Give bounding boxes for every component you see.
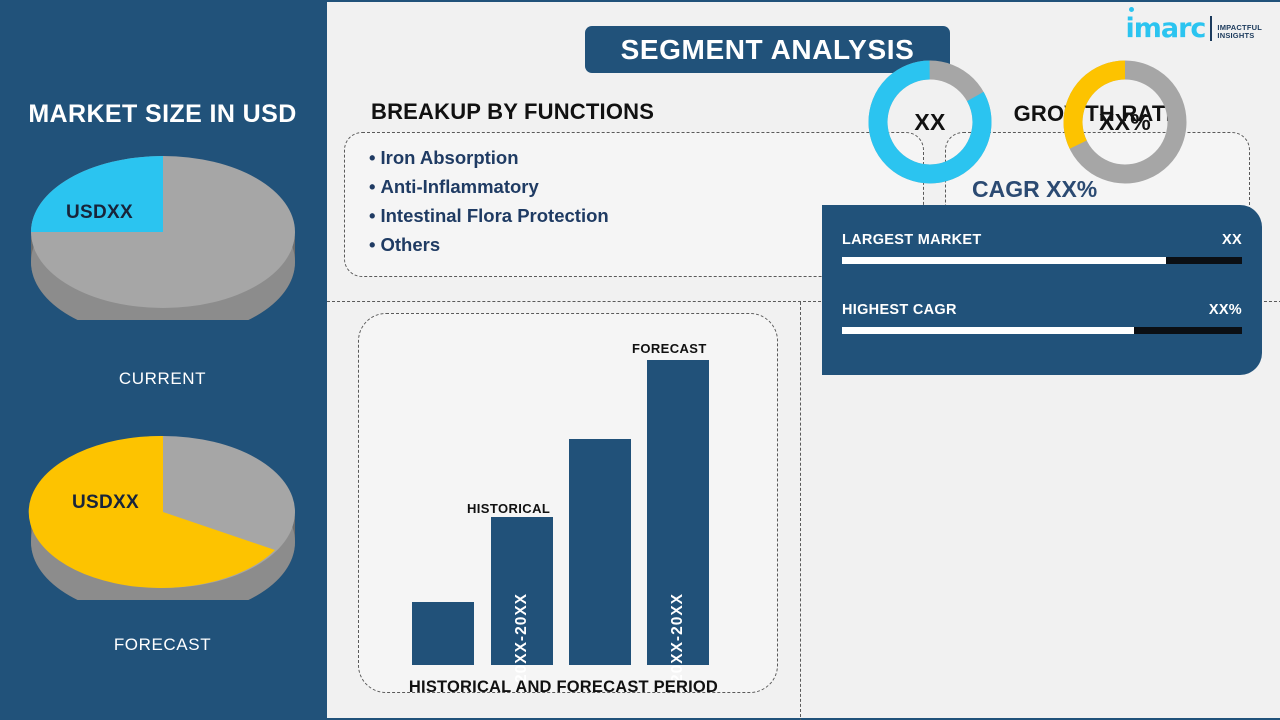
- stat-progress-fill: [842, 257, 1166, 264]
- historical-forecast-bar-chart: 20XX-20XX 20XX-20XX HISTORICAL FORECAST …: [327, 302, 800, 720]
- logo-wordmark: imarc: [1125, 15, 1205, 42]
- current-pie-chart-icon: [27, 150, 299, 320]
- forecast-pie-caption: FORECAST: [0, 635, 325, 655]
- bullet-icon: •: [369, 147, 375, 168]
- stat-header: HIGHEST CAGR XX%: [842, 302, 1242, 323]
- list-item: •Anti-Inflammatory: [369, 172, 609, 201]
- current-pie-caption: CURRENT: [0, 369, 325, 389]
- sidebar-title: MARKET SIZE IN USD: [0, 100, 325, 129]
- bar-3: 20XX-20XX: [647, 360, 709, 665]
- stat-label: HIGHEST CAGR: [842, 302, 957, 318]
- bullet-icon: •: [369, 234, 375, 255]
- donut-chart-count: XX: [865, 57, 995, 192]
- logo-dot-icon: [1129, 7, 1134, 12]
- stat-progress-fill: [842, 327, 1134, 334]
- stat-label: LARGEST MARKET: [842, 232, 982, 248]
- list-item-label: Iron Absorption: [380, 147, 518, 168]
- bar-2: [569, 439, 631, 665]
- main-panel: SEGMENT ANALYSIS imarc IMPACTFUL INSIGHT…: [325, 0, 1280, 720]
- stat-value: XX%: [1209, 302, 1242, 318]
- functions-list: •Iron Absorption •Anti-Inflammatory •Int…: [369, 143, 609, 259]
- bar-chart-caption: HISTORICAL AND FORECAST PERIOD: [327, 678, 800, 697]
- bar-1: 20XX-20XX: [491, 517, 553, 665]
- current-pie-block: USDXX CURRENT: [0, 150, 325, 389]
- vertical-divider: [800, 302, 801, 720]
- bar-0: [412, 602, 474, 665]
- logo-divider: [1210, 16, 1212, 41]
- stat-progress-track: [842, 327, 1242, 334]
- historical-annotation: HISTORICAL: [467, 501, 550, 516]
- forecast-pie-chart-icon: [27, 430, 299, 600]
- forecast-pie-value: USDXX: [72, 492, 139, 514]
- logo-tagline: IMPACTFUL INSIGHTS: [1217, 24, 1262, 42]
- imarc-logo: imarc IMPACTFUL INSIGHTS: [1125, 15, 1262, 42]
- logo-tagline-line2: INSIGHTS: [1217, 32, 1262, 40]
- forecast-pie-block: USDXX FORECAST: [0, 430, 325, 655]
- list-item-label: Anti-Inflammatory: [380, 176, 538, 197]
- logo-word-text: imarc: [1125, 15, 1205, 42]
- current-pie-stage: USDXX: [0, 150, 325, 325]
- list-item: •Iron Absorption: [369, 143, 609, 172]
- list-item: •Intestinal Flora Protection: [369, 201, 609, 230]
- bullet-icon: •: [369, 176, 375, 197]
- stat-header: LARGEST MARKET XX: [842, 232, 1242, 253]
- functions-heading: BREAKUP BY FUNCTIONS: [371, 99, 654, 125]
- market-size-sidebar: MARKET SIZE IN USD USDXX CURRENT: [0, 0, 325, 720]
- forecast-annotation: FORECAST: [632, 341, 707, 356]
- donut-chart-percent: XX%: [1060, 57, 1190, 192]
- donut-percent-value: XX%: [1060, 57, 1190, 187]
- list-item-label: Intestinal Flora Protection: [380, 205, 608, 226]
- list-item-label: Others: [380, 234, 440, 255]
- stat-progress-track: [842, 257, 1242, 264]
- donut-count-value: XX: [865, 57, 995, 187]
- current-pie-value: USDXX: [66, 202, 133, 224]
- stat-row-highest-cagr: HIGHEST CAGR XX%: [842, 302, 1242, 334]
- stat-value: XX: [1222, 232, 1242, 248]
- market-stats-card: LARGEST MARKET XX HIGHEST CAGR XX%: [822, 205, 1262, 375]
- bullet-icon: •: [369, 205, 375, 226]
- stat-row-largest-market: LARGEST MARKET XX: [842, 232, 1242, 264]
- bar-3-inner-label: 20XX-20XX: [669, 593, 687, 683]
- list-item: •Others: [369, 230, 609, 259]
- bar-1-inner-label: 20XX-20XX: [513, 593, 531, 683]
- infographic-root: MARKET SIZE IN USD USDXX CURRENT: [0, 0, 1280, 720]
- forecast-pie-stage: USDXX: [0, 430, 325, 605]
